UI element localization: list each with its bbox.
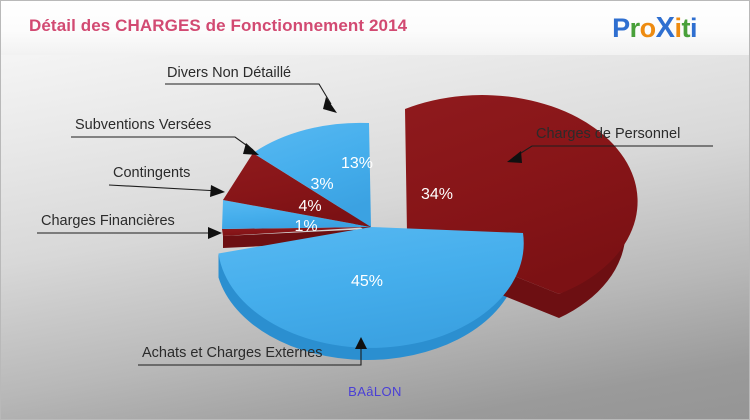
callout-label-contingents: Contingents: [113, 165, 190, 181]
callout-divers-non-detaille[interactable]: Divers Non Détaillé: [165, 65, 337, 113]
callout-subventions-versees[interactable]: Subventions Versées: [71, 117, 259, 155]
callout-label-subventions-versees: Subventions Versées: [75, 117, 211, 133]
callout-label-achats-et-charges-externes: Achats et Charges Externes: [142, 345, 323, 361]
pct-label-contingents: 4%: [298, 198, 321, 215]
callout-label-charges-financieres: Charges Financières: [41, 213, 175, 229]
pct-label-subventions-versees: 3%: [310, 176, 333, 193]
commune-caption: BAâLON: [1, 384, 749, 399]
pie-chart: 34% 45% 1% 4% 3% 13% Divers Non Détaillé…: [1, 1, 750, 420]
pct-label-charges-financieres: 1%: [294, 218, 317, 235]
chart-container: Détail des CHARGES de Fonctionnement 201…: [0, 0, 750, 420]
callout-charges-financieres[interactable]: Charges Financières: [37, 213, 222, 239]
pct-label-charges-de-personnel: 34%: [421, 186, 453, 203]
callout-label-divers-non-detaille: Divers Non Détaillé: [167, 65, 291, 81]
callout-contingents[interactable]: Contingents: [109, 165, 225, 197]
pct-label-achats-et-charges-externes: 45%: [351, 273, 383, 290]
pct-label-divers-non-detaille: 13%: [341, 155, 373, 172]
callout-label-charges-de-personnel: Charges de Personnel: [536, 126, 680, 142]
